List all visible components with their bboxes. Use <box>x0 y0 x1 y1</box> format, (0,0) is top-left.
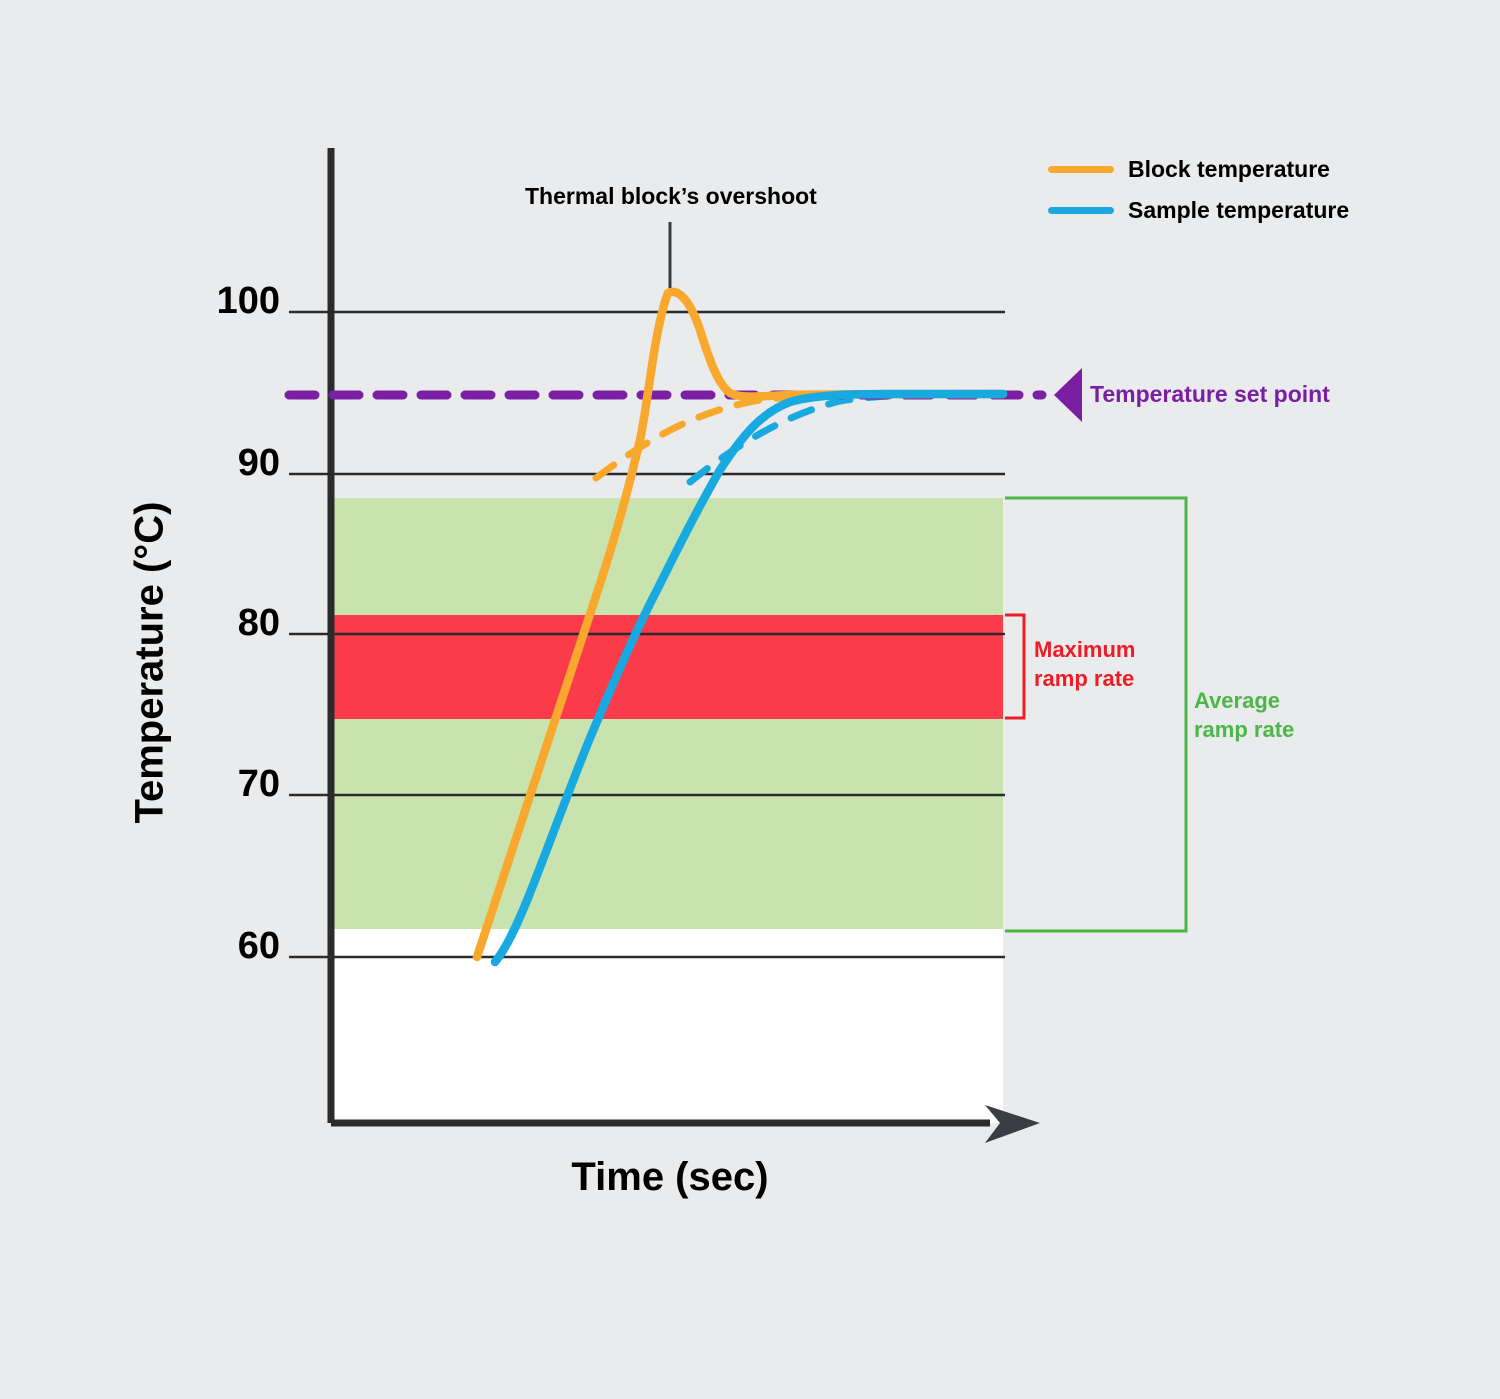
sample-temperature-dashed-curve <box>690 394 960 482</box>
legend-swatch-block-temperature <box>1048 166 1114 173</box>
chart-page: Temperature (°C) Time (sec) 100 90 80 70… <box>0 0 1500 1399</box>
legend-label-sample-temperature: Sample temperature <box>1128 197 1349 224</box>
average-ramp-rate-label: Average ramp rate <box>1194 686 1294 744</box>
y-axis-title: Temperature (°C) <box>128 453 173 873</box>
maximum-ramp-rate-label-line2: ramp rate <box>1034 664 1135 693</box>
y-tick-label-90: 90 <box>180 442 280 485</box>
legend-label-block-temperature: Block temperature <box>1128 156 1330 183</box>
band-maximum-ramp-rate <box>331 615 1003 719</box>
legend-swatch-sample-temperature <box>1048 207 1114 214</box>
average-ramp-rate-label-line1: Average <box>1194 686 1294 715</box>
overshoot-annotation-label: Thermal block’s overshoot <box>525 183 817 210</box>
x-axis-arrow-icon <box>985 1105 1040 1143</box>
average-ramp-rate-bracket <box>1005 498 1186 931</box>
maximum-ramp-rate-bracket <box>1005 615 1024 718</box>
y-tick-label-100: 100 <box>180 280 280 323</box>
y-tick-label-60: 60 <box>180 925 280 968</box>
legend-item-block-temperature[interactable]: Block temperature <box>1048 150 1378 188</box>
set-point-label: Temperature set point <box>1090 381 1330 408</box>
set-point-arrow-icon <box>1054 368 1082 422</box>
y-tick-label-80: 80 <box>180 602 280 645</box>
y-tick-label-70: 70 <box>180 763 280 806</box>
x-axis-title: Time (sec) <box>430 1155 910 1200</box>
maximum-ramp-rate-label-line1: Maximum <box>1034 635 1135 664</box>
chart-legend: Block temperature Sample temperature <box>1048 150 1378 232</box>
average-ramp-rate-label-line2: ramp rate <box>1194 715 1294 744</box>
legend-item-sample-temperature[interactable]: Sample temperature <box>1048 191 1378 229</box>
maximum-ramp-rate-label: Maximum ramp rate <box>1034 635 1135 693</box>
